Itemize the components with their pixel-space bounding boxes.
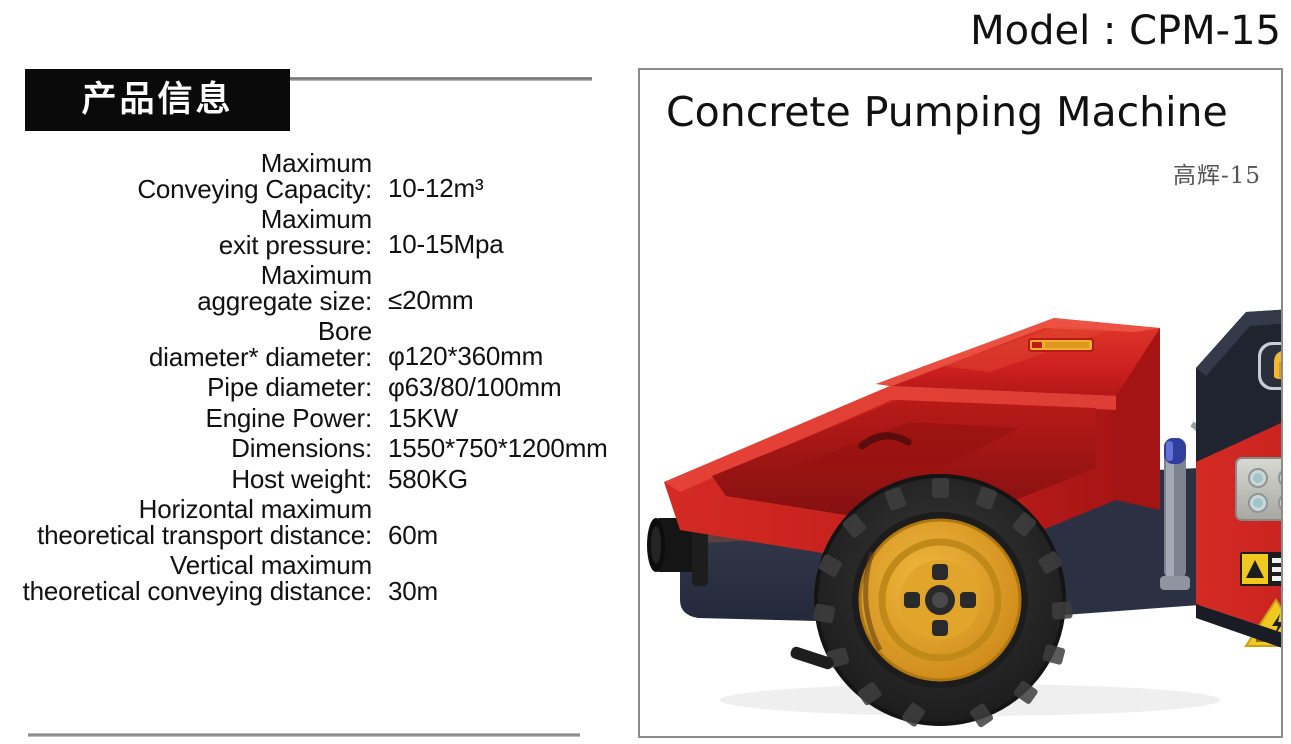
spec-label: Horizontal maximum theoretical transport…	[0, 496, 374, 548]
spec-label: Dimensions:	[0, 435, 374, 462]
spec-value: φ63/80/100mm	[374, 374, 620, 401]
product-photo-frame: Concrete Pumping Machine 高辉-15	[638, 68, 1283, 738]
product-spec-sheet: 产品信息 Maximum Conveying Capacity:10-12m³M…	[0, 0, 1291, 744]
control-panel	[1236, 458, 1281, 520]
specification-list: Maximum Conveying Capacity:10-12m³Maximu…	[0, 150, 620, 608]
spec-row: Bore diameter* diameter:φ120*360mm	[0, 318, 620, 370]
spec-value: 60m	[374, 522, 620, 549]
spec-label: Pipe diameter:	[0, 374, 374, 401]
spec-row: Host weight:580KG	[0, 466, 620, 493]
product-info-banner: 产品信息	[25, 69, 290, 131]
product-subtitle: 高辉-15	[1173, 156, 1261, 190]
spec-row: Pipe diameter:φ63/80/100mm	[0, 374, 620, 401]
spec-label: Maximum exit pressure:	[0, 206, 374, 258]
product-photo-column: Model : CPM-15 Concrete Pumping Machine …	[620, 0, 1291, 744]
spec-value: 10-15Mpa	[374, 231, 620, 258]
spec-row: Maximum exit pressure:10-15Mpa	[0, 206, 620, 258]
spec-label: Maximum aggregate size:	[0, 262, 374, 314]
product-info-header: 产品信息	[25, 69, 592, 131]
spec-row: Dimensions:1550*750*1200mm	[0, 435, 620, 462]
concrete-pump-machine-image	[640, 200, 1281, 736]
spec-label: Maximum Conveying Capacity:	[0, 150, 374, 202]
spec-value: ≤20mm	[374, 287, 620, 314]
spec-value: 15KW	[374, 405, 620, 432]
model-number-label: Model : CPM-15	[970, 8, 1281, 54]
bottom-divider-rule	[28, 733, 580, 737]
header-divider-rule	[290, 77, 592, 81]
spec-row: Vertical maximum theoretical conveying d…	[0, 552, 620, 604]
spec-label: Engine Power:	[0, 405, 374, 432]
specifications-column: 产品信息 Maximum Conveying Capacity:10-12m³M…	[0, 0, 620, 744]
spec-row: Engine Power:15KW	[0, 405, 620, 432]
spec-value: φ120*360mm	[374, 343, 620, 370]
spec-label: Vertical maximum theoretical conveying d…	[0, 552, 374, 604]
spec-label: Bore diameter* diameter:	[0, 318, 374, 370]
spec-value: 10-12m³	[374, 175, 620, 202]
spec-row: Horizontal maximum theoretical transport…	[0, 496, 620, 548]
spec-row: Maximum Conveying Capacity:10-12m³	[0, 150, 620, 202]
spec-value: 30m	[374, 578, 620, 605]
spec-row: Maximum aggregate size:≤20mm	[0, 262, 620, 314]
product-title: Concrete Pumping Machine	[666, 88, 1228, 136]
product-info-banner-label: 产品信息	[81, 83, 233, 118]
spec-label: Host weight:	[0, 466, 374, 493]
spec-value: 580KG	[374, 466, 620, 493]
hopper-brand-decal	[1028, 338, 1094, 352]
spec-value: 1550*750*1200mm	[374, 435, 620, 462]
hydraulic-cylinder	[1160, 438, 1190, 590]
warning-label	[1240, 552, 1281, 586]
